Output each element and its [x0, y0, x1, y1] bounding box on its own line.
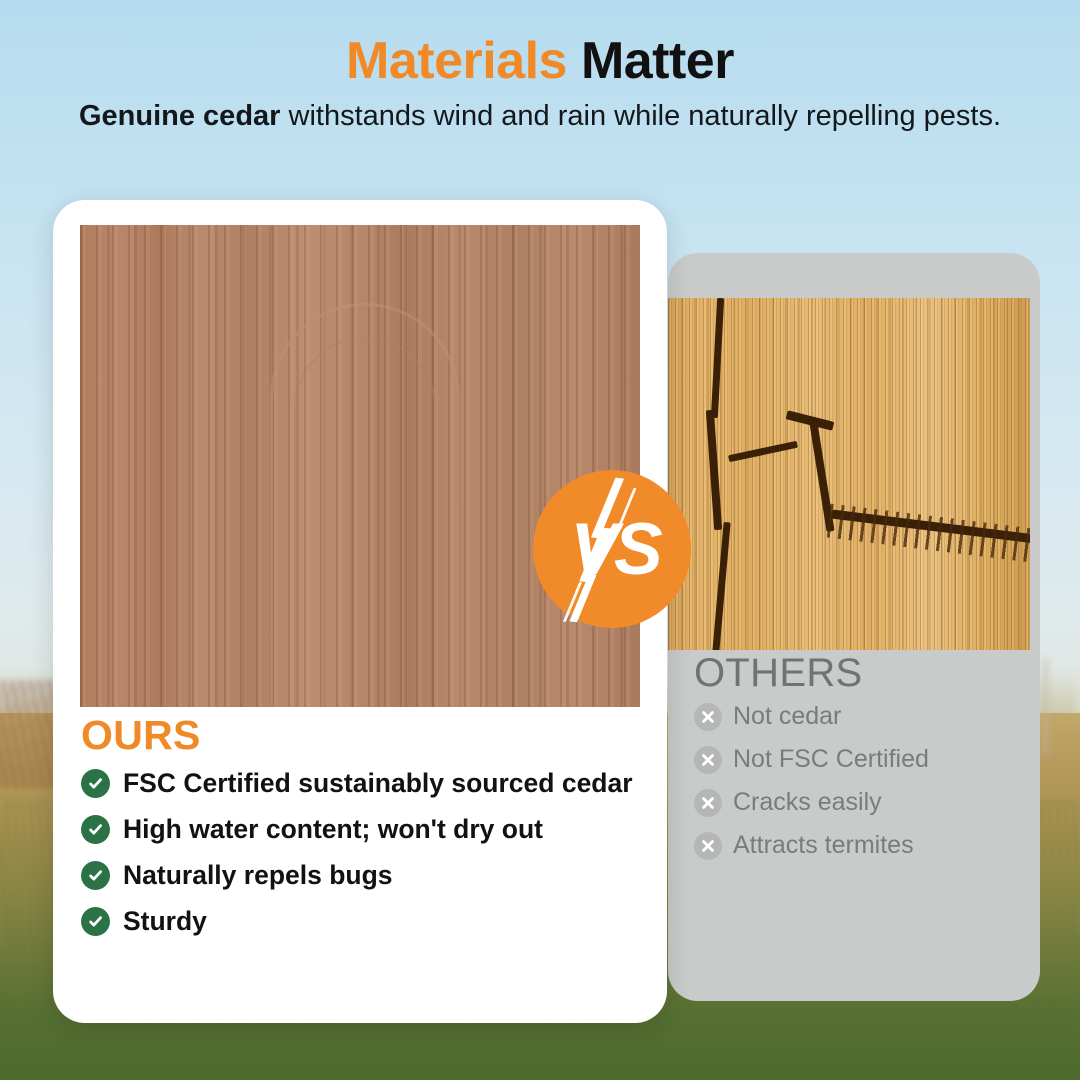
list-item-label: High water content; won't dry out	[123, 815, 543, 844]
list-item: Not cedar	[694, 703, 1014, 731]
list-item-label: Attracts termites	[733, 832, 914, 860]
list-item: Attracts termites	[694, 832, 1014, 860]
check-circle-icon	[81, 907, 110, 936]
others-card: OTHERS Not cedar Not FSC Certified	[668, 253, 1040, 1001]
ours-content: OURS FSC Certified sustainably sourced c…	[53, 715, 667, 954]
cross-circle-icon	[694, 832, 722, 860]
cedar-plank-photo	[80, 225, 640, 707]
check-circle-icon	[81, 861, 110, 890]
cathedral-grain-arc-inner	[294, 337, 436, 707]
others-content: OTHERS Not cedar Not FSC Certified	[668, 653, 1040, 875]
list-item-label: Not FSC Certified	[733, 746, 929, 774]
ours-feature-list: FSC Certified sustainably sourced cedar …	[81, 769, 639, 937]
page-subtitle: Genuine cedar withstands wind and rain w…	[0, 99, 1080, 134]
check-circle-icon	[81, 815, 110, 844]
list-item: High water content; won't dry out	[81, 815, 639, 844]
list-item: Sturdy	[81, 907, 639, 936]
list-item-label: FSC Certified sustainably sourced cedar	[123, 769, 633, 798]
header: Materials Matter Genuine cedar withstand…	[0, 34, 1080, 134]
list-item: FSC Certified sustainably sourced cedar	[81, 769, 639, 798]
list-item: Not FSC Certified	[694, 746, 1014, 774]
page-title: Materials Matter	[0, 34, 1080, 89]
others-drawback-list: Not cedar Not FSC Certified Cracks easil…	[694, 703, 1014, 860]
list-item-label: Naturally repels bugs	[123, 861, 393, 890]
others-title: OTHERS	[694, 653, 1014, 693]
list-item: Naturally repels bugs	[81, 861, 639, 890]
cross-circle-icon	[694, 703, 722, 731]
cross-circle-icon	[694, 746, 722, 774]
headline-dark: Matter	[581, 32, 734, 90]
ours-title: OURS	[81, 715, 639, 756]
headline-accent: Materials	[346, 32, 567, 90]
vs-badge: VS	[533, 470, 691, 628]
list-item-label: Sturdy	[123, 907, 207, 936]
list-item: Cracks easily	[694, 789, 1014, 817]
list-item-label: Cracks easily	[733, 789, 882, 817]
cracked-wood-plank-photo	[668, 298, 1030, 650]
subtitle-bold-lead: Genuine cedar	[79, 100, 280, 132]
list-item-label: Not cedar	[733, 703, 841, 731]
check-circle-icon	[81, 769, 110, 798]
subtitle-rest: withstands wind and rain while naturally…	[280, 100, 1001, 132]
cross-circle-icon	[694, 789, 722, 817]
